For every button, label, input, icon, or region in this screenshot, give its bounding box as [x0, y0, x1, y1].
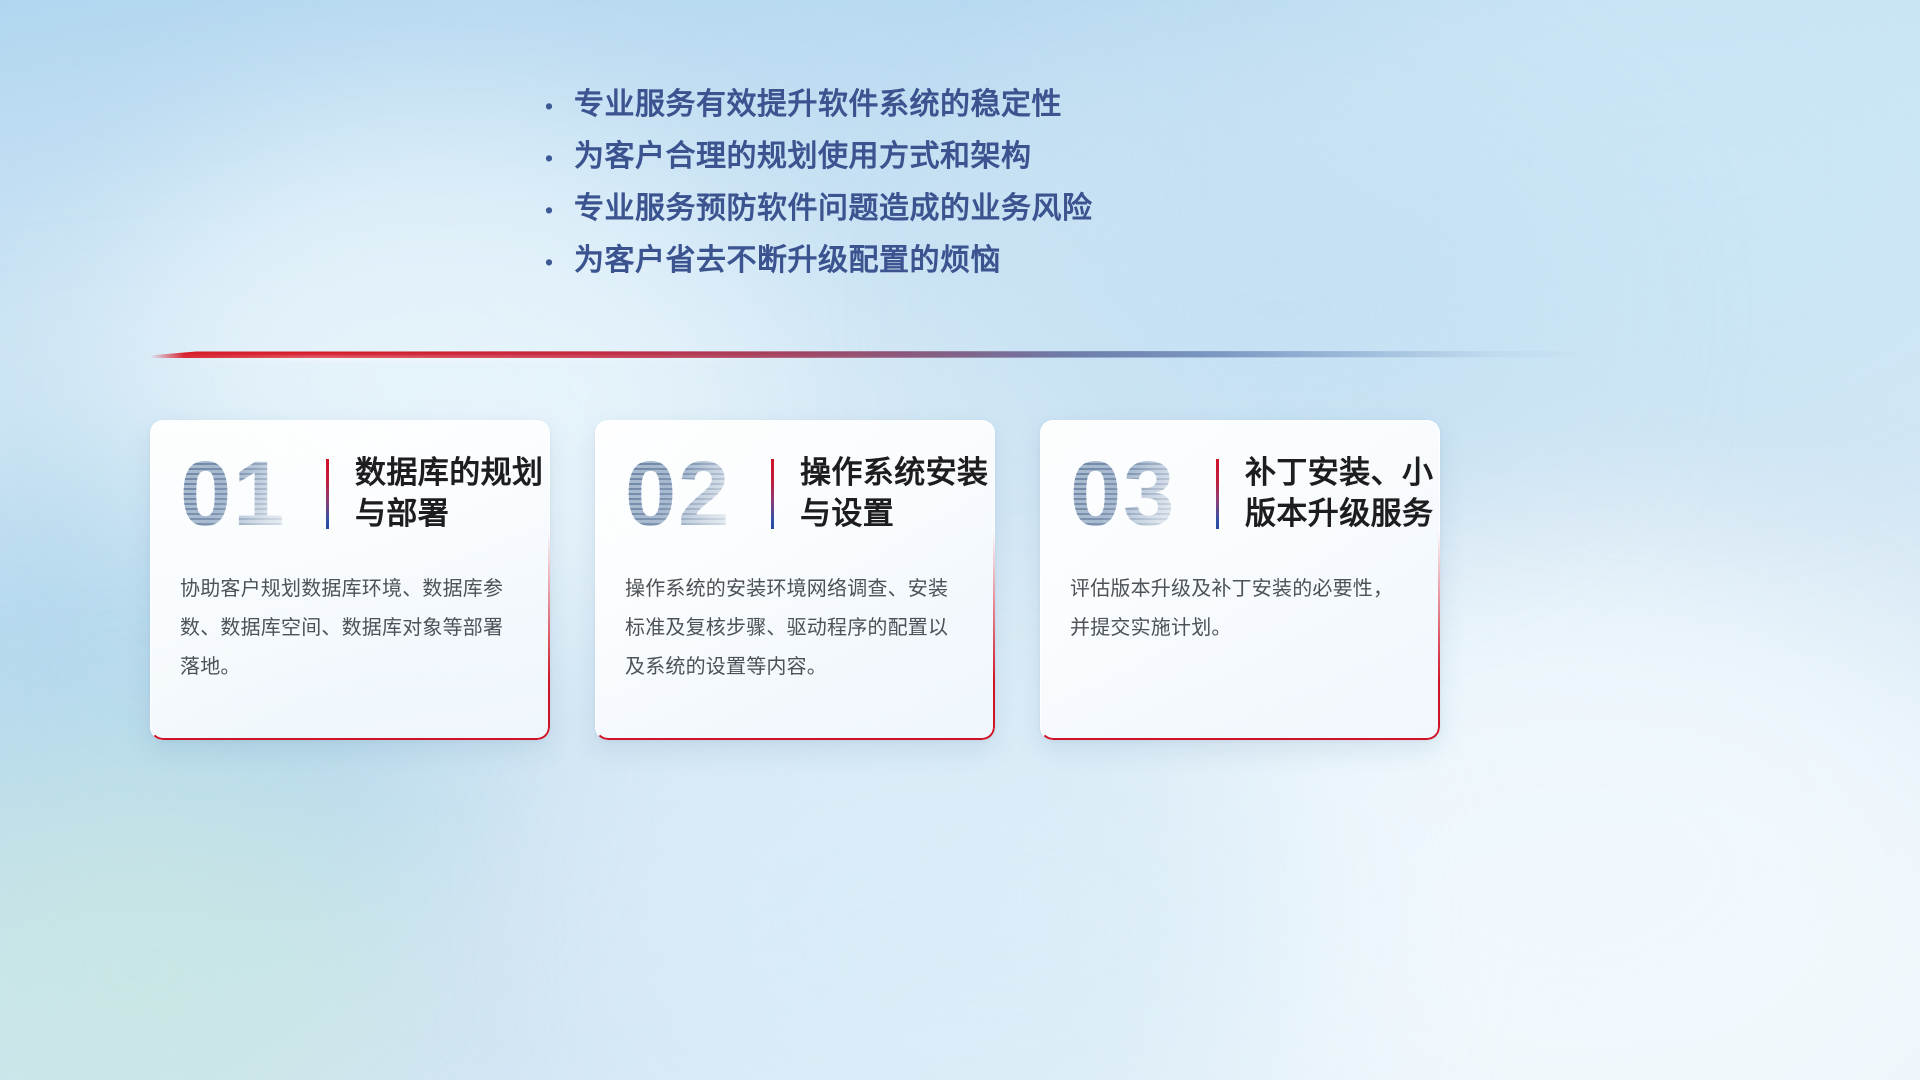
bullet-text: 专业服务有效提升软件系统的稳定性	[574, 88, 1062, 121]
card-header: 02 操作系统安装 与设置	[595, 420, 995, 560]
card-accent-rule	[1216, 459, 1219, 529]
divider-glow	[150, 356, 1043, 361]
card-header: 03 补丁安装、小 版本升级服务	[1040, 420, 1440, 560]
card-body-text: 评估版本升级及补丁安装的必要性，并提交实施计划。	[1040, 560, 1440, 648]
service-card-01[interactable]: 01 数据库的规划 与部署 协助客户规划数据库环境、数据库参数、数据库空间、数据…	[150, 420, 550, 740]
bullet-dot-icon: •	[540, 251, 574, 274]
section-divider	[150, 345, 1590, 367]
bullet-dot-icon: •	[540, 95, 574, 118]
card-title: 补丁安装、小 版本升级服务	[1245, 453, 1433, 535]
service-card-03[interactable]: 03 补丁安装、小 版本升级服务 评估版本升级及补丁安装的必要性，并提交实施计划…	[1040, 420, 1440, 740]
card-accent-rule	[326, 459, 329, 529]
bullet-dot-icon: •	[540, 147, 574, 170]
list-item: • 为客户省去不断升级配置的烦恼	[540, 244, 1420, 296]
bullet-text: 专业服务预防软件问题造成的业务风险	[574, 192, 1093, 225]
card-number: 03	[1070, 448, 1206, 540]
benefits-bullet-list: • 专业服务有效提升软件系统的稳定性 • 为客户合理的规划使用方式和架构 • 专…	[540, 88, 1420, 296]
card-title: 数据库的规划 与部署	[355, 453, 543, 535]
card-header: 01 数据库的规划 与部署	[150, 420, 550, 560]
bullet-text: 为客户省去不断升级配置的烦恼	[574, 244, 1001, 277]
list-item: • 为客户合理的规划使用方式和架构	[540, 140, 1420, 192]
card-number: 01	[180, 448, 316, 540]
bullet-text: 为客户合理的规划使用方式和架构	[574, 140, 1032, 173]
slide-canvas: • 专业服务有效提升软件系统的稳定性 • 为客户合理的规划使用方式和架构 • 专…	[0, 0, 1920, 1080]
card-body-text: 协助客户规划数据库环境、数据库参数、数据库空间、数据库对象等部署落地。	[150, 560, 550, 687]
background-blob	[0, 760, 400, 1080]
list-item: • 专业服务有效提升软件系统的稳定性	[540, 88, 1420, 140]
card-body-text: 操作系统的安装环境网络调查、安装标准及复核步骤、驱动程序的配置以及系统的设置等内…	[595, 560, 995, 687]
bullet-dot-icon: •	[540, 199, 574, 222]
service-cards: 01 数据库的规划 与部署 协助客户规划数据库环境、数据库参数、数据库空间、数据…	[150, 420, 1600, 750]
card-title: 操作系统安装 与设置	[800, 453, 988, 535]
card-number: 02	[625, 448, 761, 540]
card-accent-rule	[771, 459, 774, 529]
service-card-02[interactable]: 02 操作系统安装 与设置 操作系统的安装环境网络调查、安装标准及复核步骤、驱动…	[595, 420, 995, 740]
list-item: • 专业服务预防软件问题造成的业务风险	[540, 192, 1420, 244]
